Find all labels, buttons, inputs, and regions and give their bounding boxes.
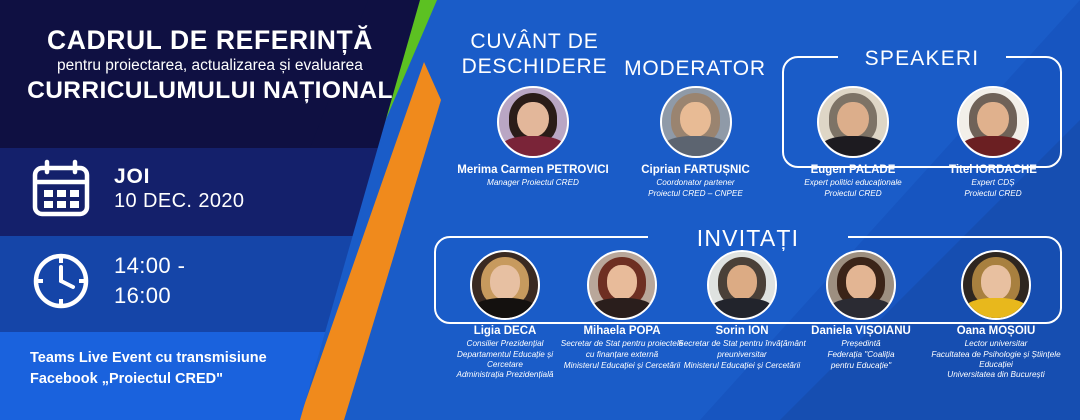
person-role-line: Lector universitar (918, 339, 1074, 349)
person-name: Daniela VIȘOIANU (796, 325, 926, 338)
event-title-block: CADRUL DE REFERINȚĂ pentru proiectarea, … (0, 26, 420, 106)
person-role-line: Ministerul Educației și Cercetării (672, 361, 812, 371)
person-role-line: cu finanțare externă (552, 350, 692, 360)
portrait-image (709, 252, 775, 318)
person-card: Daniela VIȘOIANU Președintă Federația "C… (796, 250, 926, 370)
event-time-row: 14:00 - 16:00 (30, 250, 185, 312)
person-role-line: Președintă (796, 339, 926, 349)
section-label-moderator: MODERATOR (620, 57, 770, 81)
person-role-line: Expert CDȘ (918, 178, 1068, 188)
event-banner: CADRUL DE REFERINȚĂ pentru proiectarea, … (0, 0, 1080, 420)
person-role-line: preuniversitar (672, 350, 812, 360)
portrait-image (828, 252, 894, 318)
person-role-line: Consilier Prezidențial (440, 339, 570, 349)
person-role-line: Secretar de Stat pentru învățământ (672, 339, 812, 349)
event-time-line2: 16:00 (114, 281, 185, 311)
avatar (957, 86, 1029, 158)
person-name: Ciprian FARTUȘNIC (618, 164, 773, 177)
person-card: Eugen PALADE Expert politici educațional… (778, 86, 928, 199)
section-label-opening: CUVÂNT DE DESCHIDERE (452, 30, 617, 80)
person-role-line: Administrația Prezidențială (440, 370, 570, 380)
person-role-line: Facultatea de Psihologie și Științele Ed… (918, 350, 1074, 369)
calendar-icon (30, 158, 92, 220)
portrait-image (963, 252, 1029, 318)
portrait-image (819, 88, 887, 156)
portrait-image (959, 88, 1027, 156)
event-title-line2: pentru proiectarea, actualizarea și eval… (18, 56, 402, 76)
person-card: Ligia DECA Consilier Prezidențial Depart… (440, 250, 570, 380)
person-name: Titel IORDACHE (918, 164, 1068, 177)
event-title-line1: CADRUL DE REFERINȚĂ (18, 26, 402, 55)
person-name: Oana MOȘOIU (918, 325, 1074, 338)
section-label-opening-line2: DESCHIDERE (452, 55, 617, 80)
section-label-opening-line1: CUVÂNT DE (452, 30, 617, 55)
event-title-line3: CURRICULUMULUI NAȚIONAL (18, 77, 402, 106)
person-card: Sorin ION Secretar de Stat pentru învăță… (672, 250, 812, 370)
avatar (707, 250, 777, 320)
person-role-line: Ministerul Educației și Cercetării (552, 361, 692, 371)
person-role-line: Manager Proiectul CRED (448, 178, 618, 188)
person-name: Ligia DECA (440, 325, 570, 338)
person-role-line: Proiectul CRED – CNPEE (618, 189, 773, 199)
clock-icon (30, 250, 92, 312)
avatar (961, 250, 1031, 320)
person-card: Titel IORDACHE Expert CDȘ Proiectul CRED (918, 86, 1068, 199)
person-role-line: Expert politici educaționale (778, 178, 928, 188)
avatar (817, 86, 889, 158)
avatar (660, 86, 732, 158)
person-role-line: pentru Educație" (796, 361, 926, 371)
event-date-row: JOI 10 DEC. 2020 (30, 158, 244, 220)
person-role-line: Universitatea din București (918, 370, 1074, 380)
event-date-day: JOI (114, 165, 244, 189)
person-card: Mihaela POPA Secretar de Stat pentru pro… (552, 250, 692, 370)
person-role-line: Proiectul CRED (778, 189, 928, 199)
person-role-line: Coordonator partener (618, 178, 773, 188)
event-time-line1: 14:00 - (114, 251, 185, 281)
portrait-image (499, 88, 567, 156)
avatar (497, 86, 569, 158)
portrait-image (662, 88, 730, 156)
person-role-line: Federația "Coaliția (796, 350, 926, 360)
event-date-text: JOI 10 DEC. 2020 (114, 165, 244, 213)
person-card: Oana MOȘOIU Lector universitar Facultate… (918, 250, 1074, 380)
broadcast-note-line1: Teams Live Event cu transmisiune (30, 348, 330, 369)
person-name: Mihaela POPA (552, 325, 692, 338)
person-name: Eugen PALADE (778, 164, 928, 177)
person-role-line: Proiectul CRED (918, 189, 1068, 199)
avatar (470, 250, 540, 320)
avatar (826, 250, 896, 320)
person-role-line: Secretar de Stat pentru proiectele (552, 339, 692, 349)
person-card: Ciprian FARTUȘNIC Coordonator partener P… (618, 86, 773, 199)
portrait-image (472, 252, 538, 318)
section-label-guests: INVITAȚI (650, 225, 846, 252)
person-name: Merima Carmen PETROVICI (448, 164, 618, 177)
broadcast-note-line2: Facebook „Proiectul CRED" (30, 369, 330, 390)
event-date-full: 10 DEC. 2020 (114, 189, 244, 213)
person-role-line: Departamentul Educație și Cercetare (440, 350, 570, 369)
broadcast-note: Teams Live Event cu transmisiune Faceboo… (30, 348, 330, 390)
portrait-image (589, 252, 655, 318)
avatar (587, 250, 657, 320)
event-time-text: 14:00 - 16:00 (114, 251, 185, 310)
section-label-speakers: SPEAKERI (840, 47, 1004, 71)
person-name: Sorin ION (672, 325, 812, 338)
person-card: Merima Carmen PETROVICI Manager Proiectu… (448, 86, 618, 188)
